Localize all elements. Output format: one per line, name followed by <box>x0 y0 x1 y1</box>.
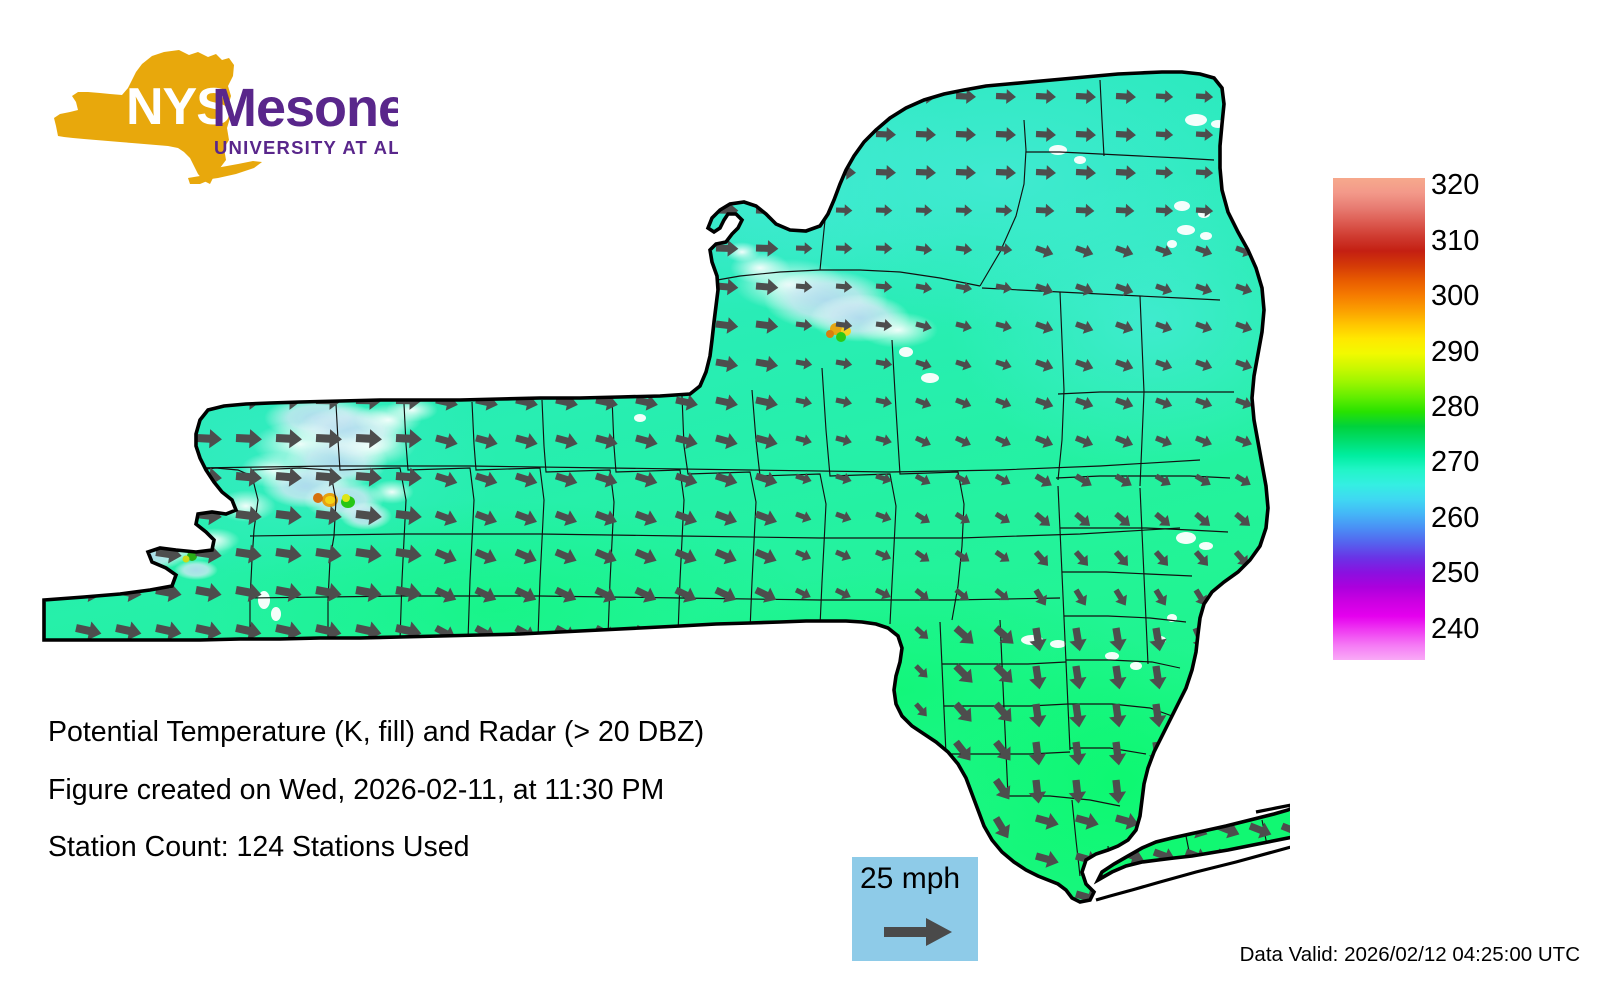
wind-arrow <box>235 274 262 295</box>
wind-arrow <box>512 659 540 685</box>
wind-arrow <box>716 127 736 142</box>
wind-arrow <box>832 890 852 910</box>
wind-arrow <box>1267 703 1288 729</box>
wind-arrow <box>1236 204 1254 218</box>
wind-arrow <box>1274 242 1290 260</box>
wind-arrow <box>195 235 223 257</box>
wind-arrow <box>156 313 183 333</box>
data-valid-timestamp: Data Valid: 2026/02/12 04:25:00 UTC <box>1240 944 1580 966</box>
wind-arrow <box>76 390 102 410</box>
wind-arrow <box>1187 779 1208 805</box>
wind-arrow <box>395 274 422 295</box>
wind-arrow <box>1187 703 1208 729</box>
wind-arrow <box>555 354 580 374</box>
wind-arrow <box>793 623 813 641</box>
wind-arrow <box>75 235 103 257</box>
colorbar-gradient <box>1333 178 1425 660</box>
wind-arrow <box>515 316 539 335</box>
wind-arrow <box>636 240 659 257</box>
wind-arrow <box>116 390 142 410</box>
wind-arrow <box>1276 204 1290 218</box>
wind-arrow <box>1270 586 1290 609</box>
wind-arrow <box>476 165 496 180</box>
wind-arrow <box>116 164 136 179</box>
wind-arrow <box>872 813 892 833</box>
wind-arrow <box>435 316 459 335</box>
wind-arrow <box>833 623 853 641</box>
wind-arrow <box>436 127 456 142</box>
wind-arrow <box>115 504 143 526</box>
wind-arrow <box>556 165 576 180</box>
wind-arrow <box>116 88 136 103</box>
wind-arrow <box>590 888 617 916</box>
wind-arrow <box>556 240 579 257</box>
wind-arrow <box>793 661 813 680</box>
wind-arrow <box>156 164 176 179</box>
wind-arrow <box>1194 886 1221 909</box>
wind-arrow <box>235 235 263 257</box>
wind-arrow <box>833 661 853 680</box>
wind-arrow <box>516 127 536 142</box>
wind-arrow <box>1273 471 1290 491</box>
wind-scale-label: 25 mph <box>860 863 960 895</box>
wind-arrow <box>595 278 619 296</box>
wind-arrow <box>196 313 223 333</box>
wind-arrow <box>833 699 853 718</box>
wind-arrow <box>676 240 699 257</box>
caption-created: Figure created on Wed, 2026-02-11, at 11… <box>48 776 868 805</box>
wind-arrow <box>316 127 336 142</box>
wind-arrow <box>670 888 697 916</box>
wind-arrow <box>676 89 696 104</box>
wind-arrow <box>752 659 780 685</box>
wind-arrow <box>873 699 893 718</box>
wind-arrow <box>1227 703 1248 729</box>
wind-arrow <box>355 235 383 257</box>
caption-stations: Station Count: 124 Stations Used <box>48 833 868 862</box>
figure-root: NYS Mesonet UNIVERSITY AT ALBANY <box>0 0 1600 1000</box>
wind-arrow <box>675 278 699 296</box>
wind-arrow <box>675 354 700 374</box>
wind-arrow <box>676 202 699 219</box>
wind-arrow <box>636 127 656 142</box>
wind-arrow <box>836 89 857 105</box>
wind-arrow <box>155 504 183 526</box>
wind-arrow <box>672 659 700 685</box>
wind-arrow <box>156 390 182 410</box>
wind-arrow <box>756 89 776 104</box>
wind-arrow <box>756 127 776 142</box>
wind-arrow <box>356 89 376 104</box>
wind-arrow <box>555 278 579 296</box>
wind-arrow <box>796 127 817 142</box>
wind-arrow <box>275 235 303 257</box>
colorbar-tick-260: 260 <box>1431 504 1479 533</box>
wind-arrow <box>712 659 740 685</box>
wind-arrow <box>76 126 96 141</box>
wind-arrow <box>596 89 616 104</box>
colorbar-tick-250: 250 <box>1431 559 1479 588</box>
wind-arrow <box>430 888 457 916</box>
wind-arrow <box>276 200 302 219</box>
wind-arrow <box>236 352 262 372</box>
wind-arrow <box>436 89 456 104</box>
wind-arrow <box>592 659 620 685</box>
wind-arrow <box>356 127 376 142</box>
wind-arrow <box>436 240 459 257</box>
colorbar-tick-310: 310 <box>1431 227 1479 256</box>
wind-arrow <box>432 659 460 685</box>
wind-arrow <box>1274 432 1290 450</box>
wind-arrow <box>116 200 142 220</box>
wind-arrow <box>676 165 696 180</box>
wind-arrow <box>316 352 342 372</box>
wind-arrow <box>114 657 144 682</box>
wind-arrow <box>476 202 499 219</box>
wind-arrow <box>630 888 657 916</box>
wind-arrow <box>516 89 536 104</box>
wind-arrow <box>116 352 142 372</box>
wind-arrow <box>234 657 264 682</box>
wind-arrow <box>796 89 817 104</box>
wind-arrow <box>396 127 416 142</box>
wind-arrow <box>315 274 342 295</box>
wind-arrow <box>1267 741 1288 767</box>
wind-arrow <box>356 352 382 372</box>
wind-arrow <box>356 313 383 333</box>
wind-arrow <box>116 428 143 449</box>
right-arrow-icon <box>882 915 954 949</box>
wind-arrow <box>476 89 496 104</box>
wind-arrow <box>1236 90 1254 104</box>
figure-caption: Potential Temperature (K, fill) and Rada… <box>48 718 868 891</box>
wind-arrow <box>596 240 619 257</box>
wind-arrow <box>470 888 497 916</box>
wind-arrow <box>276 352 302 372</box>
wind-arrow <box>156 126 176 141</box>
wind-arrow <box>75 504 103 526</box>
wind-arrow <box>156 352 182 372</box>
wind-arrow <box>1271 548 1290 571</box>
wind-arrow <box>1272 509 1290 531</box>
wind-arrow <box>316 89 336 104</box>
wind-arrow <box>115 542 144 565</box>
wind-arrow <box>196 126 216 141</box>
wind-arrow <box>1230 586 1251 609</box>
wind-arrow <box>436 202 459 219</box>
wind-arrow <box>196 352 222 372</box>
wind-arrow <box>75 274 102 295</box>
wind-arrow <box>275 274 302 295</box>
wind-arrow <box>1154 886 1181 909</box>
wind-arrow <box>556 202 579 219</box>
wind-arrow <box>1183 792 1211 816</box>
wind-arrow <box>1276 128 1290 142</box>
wind-arrow <box>76 313 103 333</box>
wind-arrow <box>315 235 343 257</box>
wind-arrow <box>316 313 343 333</box>
wind-arrow <box>155 235 183 257</box>
wind-arrow <box>596 165 616 180</box>
wind-arrow <box>516 240 539 257</box>
wind-arrow <box>396 165 416 180</box>
wind-arrow <box>1247 870 1275 894</box>
wind-arrow <box>635 316 659 335</box>
wind-arrow <box>76 88 96 103</box>
wind-arrow <box>793 699 813 718</box>
wind-arrow <box>876 89 897 105</box>
wind-arrow <box>316 200 342 219</box>
wind-arrow <box>196 88 216 103</box>
wind-arrow <box>1151 792 1179 816</box>
wind-arrow <box>756 165 776 180</box>
wind-arrow <box>475 316 499 335</box>
colorbar-tick-240: 240 <box>1431 615 1479 644</box>
colorbar-tick-labels: 320310300290280270260250240 <box>1431 178 1581 660</box>
wind-arrow <box>1268 664 1290 691</box>
wind-arrow <box>116 126 136 141</box>
wind-arrow <box>276 165 296 180</box>
wind-arrow <box>236 313 263 333</box>
wind-arrow <box>1154 810 1181 833</box>
wind-arrow <box>316 165 336 180</box>
wind-arrow <box>75 466 103 487</box>
wind-arrow <box>396 89 416 104</box>
wind-arrow <box>636 89 656 104</box>
wind-arrow <box>1274 886 1290 909</box>
wind-arrow <box>836 127 857 143</box>
wind-arrow <box>516 202 539 219</box>
wind-arrow <box>635 354 660 374</box>
wind-arrow <box>435 278 459 296</box>
wind-arrow <box>949 813 976 842</box>
wind-arrow <box>796 165 817 180</box>
wind-arrow <box>115 235 143 257</box>
wind-arrow <box>636 202 659 219</box>
wind-arrow <box>196 164 216 179</box>
wind-arrow <box>515 354 540 374</box>
wind-arrow <box>115 274 142 295</box>
wind-arrow <box>476 240 499 257</box>
wind-arrow <box>435 354 460 374</box>
wind-arrow <box>515 278 539 296</box>
wind-arrow <box>196 200 222 219</box>
wind-arrow <box>1228 664 1251 691</box>
wind-arrow <box>595 354 620 374</box>
wind-arrow <box>1274 356 1290 374</box>
wind-arrow <box>750 888 777 916</box>
colorbar-tick-300: 300 <box>1431 282 1479 311</box>
wind-arrow <box>510 888 537 916</box>
wind-arrow <box>195 274 222 295</box>
colorbar-tick-290: 290 <box>1431 338 1479 367</box>
wind-arrow <box>1228 625 1253 654</box>
wind-arrow <box>396 313 423 333</box>
wind-arrow <box>911 815 930 835</box>
wind-arrow <box>436 165 456 180</box>
wind-arrow <box>76 428 103 449</box>
wind-arrow <box>636 165 656 180</box>
wind-arrow <box>716 165 736 180</box>
wind-arrow <box>1187 741 1208 767</box>
wind-arrow <box>1234 886 1261 909</box>
wind-arrow <box>872 775 892 795</box>
wind-arrow <box>356 200 382 219</box>
wind-arrow <box>1247 792 1275 816</box>
wind-arrow <box>1227 779 1248 805</box>
wind-arrow <box>1268 625 1290 654</box>
wind-arrow <box>676 127 696 142</box>
colorbar-tick-280: 280 <box>1431 393 1479 422</box>
wind-arrow <box>355 274 382 295</box>
wind-arrow <box>635 278 659 296</box>
wind-arrow <box>796 204 813 217</box>
wind-scale-key: 25 mph <box>852 857 978 961</box>
wind-arrow <box>675 316 699 335</box>
wind-arrow <box>74 657 104 682</box>
wind-arrow <box>550 888 577 916</box>
wind-arrow <box>1227 741 1248 767</box>
wind-arrow <box>236 200 262 219</box>
wind-arrow <box>1279 870 1290 894</box>
colorbar: 320310300290280270260250240 <box>1333 178 1583 660</box>
wind-arrow <box>792 890 812 910</box>
wind-arrow <box>356 165 376 180</box>
wind-arrow <box>354 657 384 682</box>
wind-arrow <box>911 738 931 758</box>
wind-arrow <box>276 89 296 104</box>
wind-arrow <box>76 352 102 372</box>
wind-arrow <box>1215 870 1243 894</box>
wind-arrow <box>516 165 536 180</box>
wind-arrow <box>988 890 1014 919</box>
wind-arrow <box>475 278 499 296</box>
wind-arrow <box>595 316 619 335</box>
wind-arrow <box>276 313 303 333</box>
colorbar-tick-270: 270 <box>1431 448 1479 477</box>
wind-arrow <box>873 661 893 680</box>
wind-arrow <box>396 352 422 372</box>
wind-arrow <box>596 127 616 142</box>
wind-arrow <box>475 354 500 374</box>
wind-arrow <box>154 657 184 682</box>
wind-arrow <box>314 657 344 682</box>
wind-arrow <box>555 316 579 335</box>
wind-arrow <box>1274 280 1290 298</box>
wind-arrow <box>552 659 580 685</box>
wind-arrow <box>115 466 143 487</box>
wind-arrow <box>472 659 500 685</box>
wind-arrow <box>1215 792 1243 816</box>
wind-arrow <box>194 657 224 682</box>
wind-arrow <box>236 165 256 180</box>
wind-arrow <box>155 274 182 295</box>
wind-arrow <box>236 89 256 104</box>
wind-arrow <box>1276 166 1290 180</box>
wind-arrow <box>156 428 183 449</box>
wind-arrow <box>1274 394 1290 412</box>
wind-arrow <box>76 164 96 179</box>
wind-arrow <box>395 235 423 257</box>
wind-arrow <box>76 200 102 220</box>
wind-arrow <box>476 127 496 142</box>
wind-arrow <box>396 200 422 219</box>
wind-arrow <box>556 127 576 142</box>
caption-title: Potential Temperature (K, fill) and Rada… <box>48 718 868 747</box>
wind-arrow <box>710 888 737 916</box>
wind-arrow <box>155 466 183 487</box>
wind-arrow <box>632 659 660 685</box>
wind-arrow <box>75 542 104 565</box>
wind-arrow <box>1236 128 1254 142</box>
wind-arrow <box>596 202 619 219</box>
wind-arrow <box>1276 90 1290 104</box>
wind-arrow <box>156 200 182 220</box>
wind-arrow <box>1274 318 1290 336</box>
wind-arrow <box>556 89 576 104</box>
wind-arrow <box>1147 779 1167 804</box>
wind-arrow <box>716 89 736 104</box>
wind-arrow <box>394 657 424 682</box>
wind-arrow <box>116 313 143 333</box>
wind-arrow <box>156 88 176 103</box>
wind-arrow <box>872 737 892 757</box>
wind-arrow <box>1267 779 1288 805</box>
wind-arrow <box>911 777 930 797</box>
wind-arrow <box>1236 166 1254 180</box>
wind-arrow <box>1034 886 1061 909</box>
wind-arrow <box>274 657 304 682</box>
wind-arrow <box>276 127 296 142</box>
wind-arrow <box>236 127 256 142</box>
colorbar-tick-320: 320 <box>1431 171 1479 200</box>
